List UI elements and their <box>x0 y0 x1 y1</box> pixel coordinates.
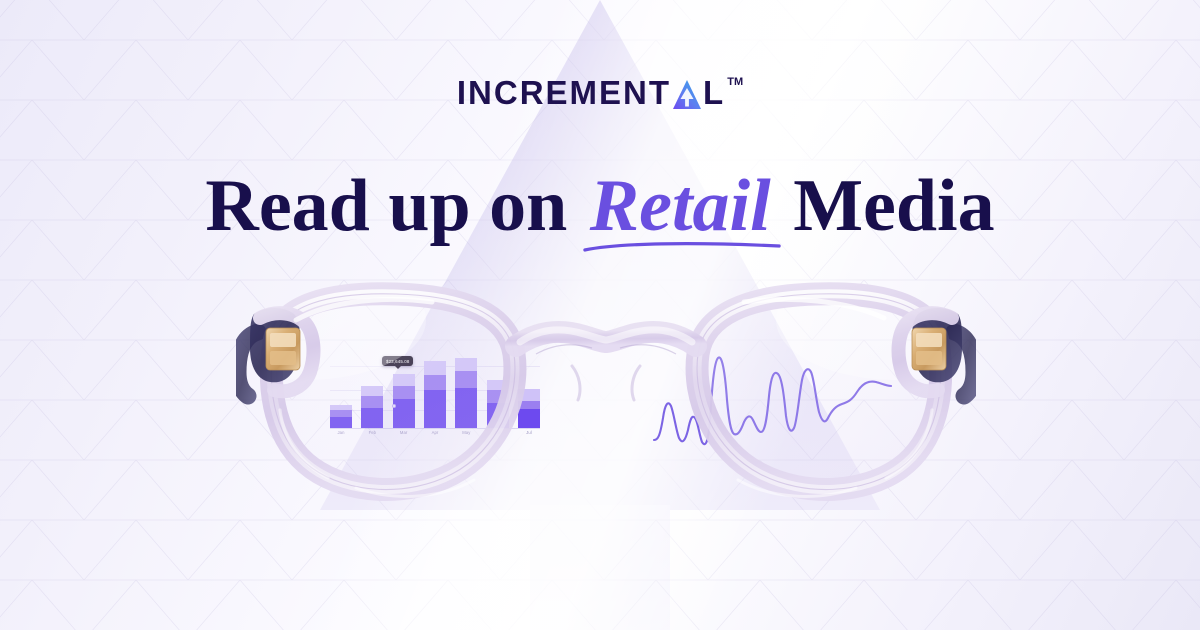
hand-drawn-underline <box>582 239 783 255</box>
social-card-canvas: INCREMENT L TM Read up <box>0 0 1200 630</box>
trademark-symbol: TM <box>727 77 743 88</box>
brand-logo-text-after: L <box>703 76 725 109</box>
brand-logo-text-before: INCREMENT <box>457 76 671 109</box>
headline-part-two: Media <box>775 165 995 247</box>
brand-logo-wordmark: INCREMENT L TM <box>457 76 743 109</box>
headline-accent-text: Retail <box>590 165 771 247</box>
headline-accent-word: Retail <box>586 165 775 247</box>
brand-logo-triangle-a-icon <box>672 79 702 110</box>
brand-logo[interactable]: INCREMENT L TM <box>0 76 1200 109</box>
headline-part-one: Read up on <box>205 165 585 247</box>
clear-lavender-eyeglasses <box>236 280 976 550</box>
page-title: Read up on Retail Media <box>0 168 1200 245</box>
